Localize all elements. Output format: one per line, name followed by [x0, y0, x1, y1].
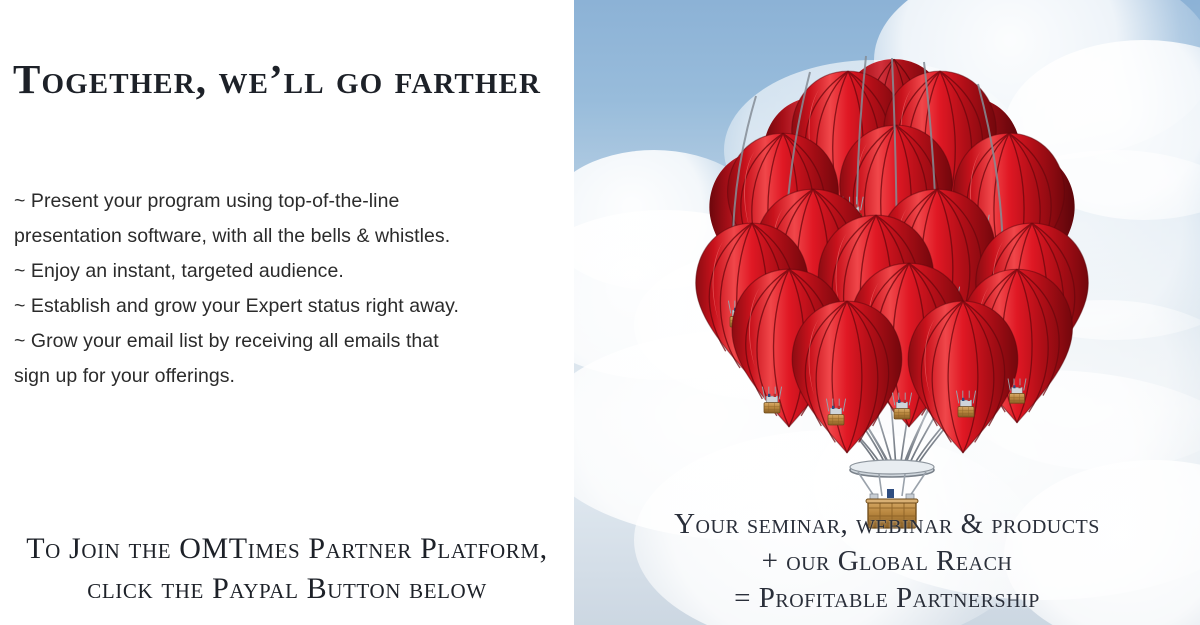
benefit-line: ~ Present your program using top-of-the-…: [14, 184, 562, 219]
left-text-panel: Together, we’ll go farther ~ Present you…: [0, 0, 574, 625]
benefit-line: ~ Establish and grow your Expert status …: [14, 289, 562, 324]
benefit-line: ~ Grow your email list by receiving all …: [14, 324, 562, 359]
cta-line-1: To Join the OMTimes Partner Platform,: [8, 529, 566, 569]
call-to-action: To Join the OMTimes Partner Platform, cl…: [0, 529, 574, 609]
cta-line-2: click the Paypal Button below: [8, 569, 566, 609]
page-title: Together, we’ll go farther: [13, 57, 541, 102]
caption-line-1: Your seminar, webinar & products: [574, 506, 1200, 543]
photo-caption: Your seminar, webinar & products + our G…: [574, 506, 1200, 617]
caption-line-2: + our Global Reach: [574, 543, 1200, 580]
caption-line-3: = Profitable Partnership: [574, 580, 1200, 617]
benefit-line: presentation software, with all the bell…: [14, 219, 562, 254]
benefits-list: ~ Present your program using top-of-the-…: [14, 184, 562, 394]
benefit-line: ~ Enjoy an instant, targeted audience.: [14, 254, 562, 289]
right-photo-panel: Your seminar, webinar & products + our G…: [574, 0, 1200, 625]
slide-root: Together, we’ll go farther ~ Present you…: [0, 0, 1200, 625]
benefit-line: sign up for your offerings.: [14, 359, 562, 394]
